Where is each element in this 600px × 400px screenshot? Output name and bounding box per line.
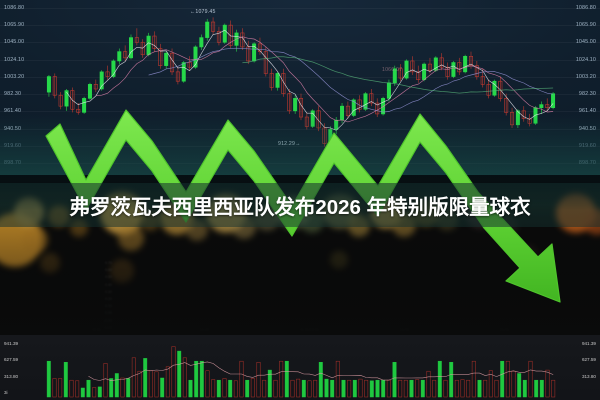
candle <box>270 69 273 91</box>
volume-bar <box>484 380 487 397</box>
headline-text: 弗罗茨瓦夫西里西亚队发布2026 年特别版限量球衣 <box>0 190 600 220</box>
chart-poster: 1086.801065.901045.001024.101003.20982.3… <box>0 0 600 400</box>
candle <box>329 126 332 148</box>
volume-bar <box>472 361 475 397</box>
volume-bar <box>404 380 407 397</box>
candle <box>376 98 379 117</box>
volume-bar <box>387 380 390 397</box>
volume-bar <box>234 381 237 397</box>
volume-bar <box>132 358 135 397</box>
candle <box>82 97 85 114</box>
volume-bar <box>297 379 300 397</box>
volume-bar <box>183 358 186 397</box>
price-axis-right: 1086.801065.901045.001024.101003.20982.3… <box>540 0 596 175</box>
volume-bar <box>336 361 339 397</box>
volume-bar <box>353 380 356 397</box>
volume-bar <box>98 387 101 397</box>
volume-bar <box>410 380 413 397</box>
volume-bar <box>144 358 147 397</box>
price-tick-right: 1024.10 <box>576 57 596 63</box>
volume-bar <box>365 380 368 397</box>
volume-bar <box>399 380 402 397</box>
volume-bar <box>348 380 351 397</box>
volume-bar <box>359 379 362 397</box>
candle <box>487 80 490 99</box>
candle <box>516 109 519 128</box>
volume-bar <box>523 380 526 397</box>
volume-bar <box>331 380 334 397</box>
volume-bar <box>172 347 175 397</box>
price-tick-right: 961.40 <box>579 108 596 114</box>
volume-bar <box>370 381 373 397</box>
candle <box>147 33 150 56</box>
volume-bar <box>87 380 90 397</box>
volume-bar <box>319 362 322 397</box>
volume-bar <box>438 361 441 397</box>
volume-bar <box>455 380 458 397</box>
volume-bar <box>59 379 62 398</box>
candle <box>129 34 132 59</box>
candle <box>475 61 478 80</box>
volume-bar <box>104 363 107 397</box>
volume-bar <box>64 362 67 397</box>
volume-bar <box>257 362 260 397</box>
candle <box>123 45 126 61</box>
volume-bar <box>70 380 73 397</box>
volume-bar <box>450 362 453 397</box>
candle <box>164 52 167 69</box>
price-tick-left: 919.60 <box>4 143 21 149</box>
candle <box>434 56 437 72</box>
price-tick-right: 982.30 <box>579 91 596 97</box>
volume-bar <box>495 380 498 397</box>
price-annotation: 912.29→ <box>278 141 300 147</box>
candle <box>510 108 513 128</box>
price-axis-left: 1086.801065.901045.001024.101003.20982.3… <box>4 0 60 175</box>
volume-bar <box>212 380 215 397</box>
candle <box>135 28 138 45</box>
volume-bar <box>285 361 288 397</box>
volume-bar <box>223 379 226 398</box>
volume-bar <box>200 361 203 397</box>
candle <box>159 44 162 69</box>
candle <box>106 66 109 80</box>
volume-tick-left: 941.39 <box>4 341 18 346</box>
volume-bar <box>81 388 84 397</box>
volume-tick-right: 941.39 <box>582 341 596 346</box>
candle <box>522 106 525 122</box>
price-tick-right: 1003.20 <box>576 74 596 80</box>
price-tick-left: 1065.90 <box>4 22 24 28</box>
price-tick-left: 898.70 <box>4 160 21 166</box>
volume-bar <box>127 379 130 398</box>
candle <box>206 19 209 41</box>
candle <box>276 72 279 91</box>
volume-bar <box>53 379 56 398</box>
volume-tick-left: 627.59 <box>4 357 18 362</box>
candle <box>88 83 91 100</box>
volume-bar <box>138 371 141 397</box>
volume-bar <box>552 380 555 397</box>
moving-average-line <box>242 57 553 93</box>
price-annotation: ←1079.45 <box>190 9 216 15</box>
volume-bar <box>195 361 198 397</box>
volume-chart-panel: 941.39627.59313.803i 941.39627.59313.80 <box>0 335 600 400</box>
candle <box>141 39 144 58</box>
volume-bar <box>501 361 504 397</box>
candle <box>200 34 203 50</box>
volume-tick-right: 627.59 <box>582 357 596 362</box>
volume-bar <box>506 361 509 397</box>
volume-bar <box>461 380 464 397</box>
volume-bar <box>274 380 277 397</box>
candle <box>252 42 255 62</box>
candle <box>452 61 455 78</box>
candle <box>463 55 466 74</box>
volume-bar <box>155 372 158 397</box>
candle <box>528 114 531 126</box>
volume-tick-left: 313.80 <box>4 374 18 379</box>
price-tick-left: 1024.10 <box>4 57 24 63</box>
volume-bar <box>421 380 424 397</box>
volume-bar <box>376 380 379 397</box>
volume-bar <box>76 381 79 397</box>
candle <box>264 47 267 77</box>
price-tick-right: 1045.00 <box>576 39 596 45</box>
volume-bar <box>206 371 209 397</box>
price-tick-left: 961.40 <box>4 108 21 114</box>
volume-bar <box>93 388 96 398</box>
volume-bar <box>280 361 283 397</box>
volume-bar <box>251 379 254 398</box>
price-annotation: 1066.07 <box>382 67 402 73</box>
candle <box>194 45 197 68</box>
volume-bar <box>161 378 164 397</box>
candle <box>112 59 115 78</box>
candle <box>176 67 179 84</box>
price-tick-left: 940.50 <box>4 126 21 132</box>
volume-bar <box>47 361 50 397</box>
volume-bar <box>291 380 294 397</box>
price-chart-panel: 1086.801065.901045.001024.101003.20982.3… <box>0 0 600 175</box>
candle <box>358 95 361 112</box>
candle <box>446 63 449 80</box>
volume-bar <box>302 380 305 397</box>
volume-bar <box>115 374 118 398</box>
volume-bar <box>325 379 328 397</box>
price-tick-right: 940.50 <box>579 126 596 132</box>
moving-average-line <box>149 48 553 112</box>
candle <box>217 27 220 46</box>
volume-tick-left: 3i <box>4 390 8 395</box>
volume-bar <box>393 362 396 397</box>
moving-average-line <box>67 30 554 130</box>
candle <box>223 24 226 44</box>
volume-series <box>0 335 600 400</box>
candle <box>311 109 314 128</box>
candle <box>440 53 443 70</box>
volume-bar <box>229 380 232 397</box>
candle <box>282 69 285 97</box>
candle <box>458 58 461 75</box>
candle <box>153 31 156 51</box>
volume-bar <box>467 380 470 397</box>
headline-banner: 弗罗茨瓦夫西里西亚队发布2026 年特别版限量球衣 <box>0 183 600 227</box>
candle <box>417 66 420 83</box>
candle <box>188 56 191 70</box>
candle <box>305 112 308 129</box>
volume-tick-right: 313.80 <box>582 374 596 379</box>
volume-bar <box>427 371 430 397</box>
volume-bar <box>535 380 538 397</box>
candle <box>94 80 97 92</box>
candle <box>493 80 496 97</box>
volume-bar <box>540 380 543 397</box>
volume-bar <box>512 371 515 397</box>
volume-bar <box>416 380 419 397</box>
price-tick-left: 982.30 <box>4 91 21 97</box>
volume-bar <box>240 361 243 397</box>
price-tick-right: 919.60 <box>579 143 596 149</box>
volume-bar <box>308 381 311 397</box>
candlestick-series <box>0 0 600 175</box>
volume-bar <box>529 361 532 397</box>
volume-bar <box>433 380 436 397</box>
candle <box>293 95 296 114</box>
price-tick-right: 1086.80 <box>576 5 596 11</box>
candle <box>405 59 408 79</box>
candle <box>411 56 414 75</box>
price-tick-left: 1086.80 <box>4 5 24 11</box>
volume-axis-right: 941.39627.59313.80 <box>556 335 596 400</box>
price-tick-left: 1003.20 <box>4 74 24 80</box>
volume-bar <box>189 380 192 397</box>
volume-bar <box>246 380 249 397</box>
volume-bar <box>314 380 317 397</box>
candle <box>370 89 373 106</box>
volume-bar <box>121 378 124 397</box>
volume-axis-left: 941.39627.59313.803i <box>4 335 44 400</box>
volume-bar <box>342 380 345 397</box>
volume-bar <box>217 380 220 397</box>
price-tick-right: 898.70 <box>579 160 596 166</box>
volume-bar <box>444 380 447 397</box>
candle <box>211 17 214 34</box>
candle <box>118 49 121 65</box>
price-tick-left: 1045.00 <box>4 39 24 45</box>
volume-bar <box>166 367 169 397</box>
volume-bar <box>178 351 181 397</box>
candle <box>288 89 291 114</box>
volume-bar <box>110 379 113 398</box>
volume-bar <box>263 380 266 397</box>
volume-bar <box>518 374 521 398</box>
price-tick-right: 1065.90 <box>576 22 596 28</box>
volume-bar <box>382 380 385 397</box>
volume-bar <box>546 370 549 397</box>
volume-bar <box>478 380 481 397</box>
volume-bar <box>149 371 152 397</box>
